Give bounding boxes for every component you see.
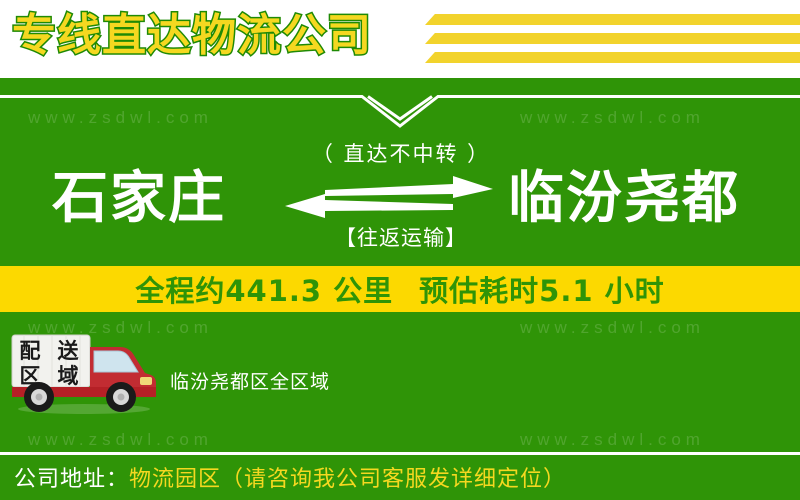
watermark: www.zsdwl.com	[520, 318, 705, 338]
header-bar: 专线直达物流公司	[0, 0, 800, 78]
direct-route-note: （ 直达不中转 ）	[283, 138, 519, 168]
delivery-truck-icon: 配 送 区 域	[8, 333, 160, 415]
decorative-stripes	[425, 14, 800, 72]
truck-badge-char-4: 域	[58, 364, 79, 388]
destination-city: 临汾尧都	[508, 166, 740, 232]
page-title: 专线直达物流公司	[12, 8, 372, 64]
origin-city: 石家庄	[52, 166, 226, 232]
delivery-area-text: 临汾尧都区全区域	[170, 367, 330, 394]
bidirectional-arrow-icon	[285, 176, 493, 218]
truck-badge-char-3: 区	[20, 364, 41, 388]
distance-duration-bar: 全程约441.3 公里 预估耗时5.1 小时	[0, 266, 800, 312]
estimated-duration-text: 预估耗时5.1 小时	[419, 268, 664, 310]
truck-badge-char-1: 配	[20, 339, 41, 363]
company-address: 公司地址：物流园区（请咨询我公司客服发详细定位）	[14, 465, 566, 495]
divider-line-left	[0, 95, 360, 98]
logistics-route-banner: 专线直达物流公司 www.zsdwl.com www.zsdwl.com www…	[0, 0, 800, 500]
footer-divider	[0, 452, 800, 455]
total-distance-text: 全程约441.3 公里	[135, 268, 393, 310]
company-address-label: 公司地址：	[14, 467, 129, 492]
watermark: www.zsdwl.com	[520, 430, 705, 450]
divider-line-right	[440, 95, 800, 98]
round-trip-note: 【往返运输】	[283, 222, 519, 252]
watermark: www.zsdwl.com	[28, 430, 213, 450]
chevron-down-icon	[350, 88, 450, 130]
truck-badge-char-2: 送	[58, 339, 80, 363]
company-address-value: 物流园区（请咨询我公司客服发详细定位）	[129, 467, 566, 492]
stripe-1	[425, 14, 800, 25]
stripe-2	[425, 33, 800, 44]
chevron-divider	[0, 88, 800, 130]
stripe-3	[425, 52, 800, 63]
